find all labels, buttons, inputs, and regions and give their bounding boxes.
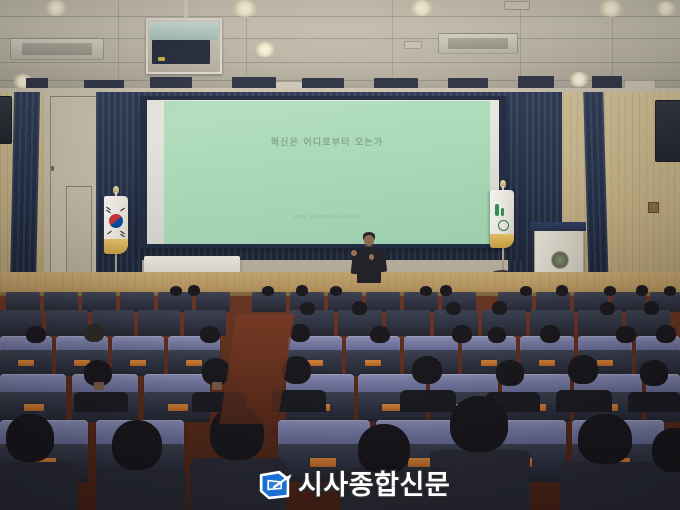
ceiling-downlight	[655, 1, 677, 16]
seat[interactable]	[278, 420, 370, 446]
ceiling-downlight	[598, 0, 624, 17]
seat-number-plate	[597, 360, 613, 366]
ceiling-vent-small	[404, 41, 422, 49]
seat[interactable]	[0, 374, 66, 394]
ceiling-ac-vent	[10, 38, 104, 60]
slide-subtitle: 강연자 · 광명경영고등학교 혁신교육	[164, 214, 490, 220]
seat-number-plate	[310, 458, 336, 467]
seat-back[interactable]	[120, 292, 154, 312]
seat-back[interactable]	[138, 310, 180, 336]
seat-back[interactable]	[6, 292, 40, 312]
seat-number-plate	[365, 360, 381, 366]
seat-number-plate	[168, 404, 188, 411]
watermark-text: 시사종합신문	[298, 472, 450, 499]
auditorium-photo: 혁신은 어디로부터 오는가 강연자 · 광명경영고등학교 혁신교육	[0, 0, 680, 510]
seat-number-plate	[18, 360, 34, 366]
projected-slide: 혁신은 어디로부터 오는가 강연자 · 광명경영고등학교 혁신교육	[164, 101, 490, 244]
wall-speaker-left	[0, 96, 12, 144]
ceiling-downlight	[410, 0, 434, 16]
seat-back[interactable]	[366, 292, 400, 312]
wall-speaker	[655, 100, 680, 162]
seat-number-plate	[539, 360, 555, 366]
ceiling-downlight	[254, 42, 276, 57]
slide-title: 혁신은 어디로부터 오는가	[164, 135, 490, 148]
door-knob-icon	[51, 166, 54, 171]
seat[interactable]	[144, 374, 210, 394]
seat-number-plate	[130, 360, 146, 366]
ceiling-downlight	[44, 0, 68, 16]
seat-back[interactable]	[82, 292, 116, 312]
korean-national-flag	[104, 196, 128, 254]
seat-number-plate	[186, 360, 202, 366]
ceiling-projector-cage	[146, 18, 222, 74]
wall-plate	[648, 202, 659, 213]
seat-back[interactable]	[44, 292, 78, 312]
ceiling-ac-vent	[438, 33, 518, 54]
institution-flag	[490, 190, 514, 248]
seat-back[interactable]	[196, 292, 230, 312]
seat-number-plate	[24, 404, 44, 411]
sisa-news-logo-icon	[258, 470, 292, 500]
ceiling	[0, 0, 680, 92]
lectern-emblem	[551, 251, 569, 269]
ceiling-downlight	[568, 72, 590, 87]
seat-back[interactable]	[46, 310, 88, 336]
stage-curtain-left	[10, 92, 40, 290]
seat-back[interactable]	[386, 310, 430, 336]
projector-mount-stem	[184, 0, 188, 20]
ceiling-downlight	[232, 0, 258, 17]
lectern-top	[530, 222, 586, 231]
seat-number-plate	[481, 360, 497, 366]
seat-number-plate	[382, 404, 402, 411]
watermark: 시사종합신문	[258, 470, 450, 500]
ceiling-vent-small	[504, 1, 530, 10]
